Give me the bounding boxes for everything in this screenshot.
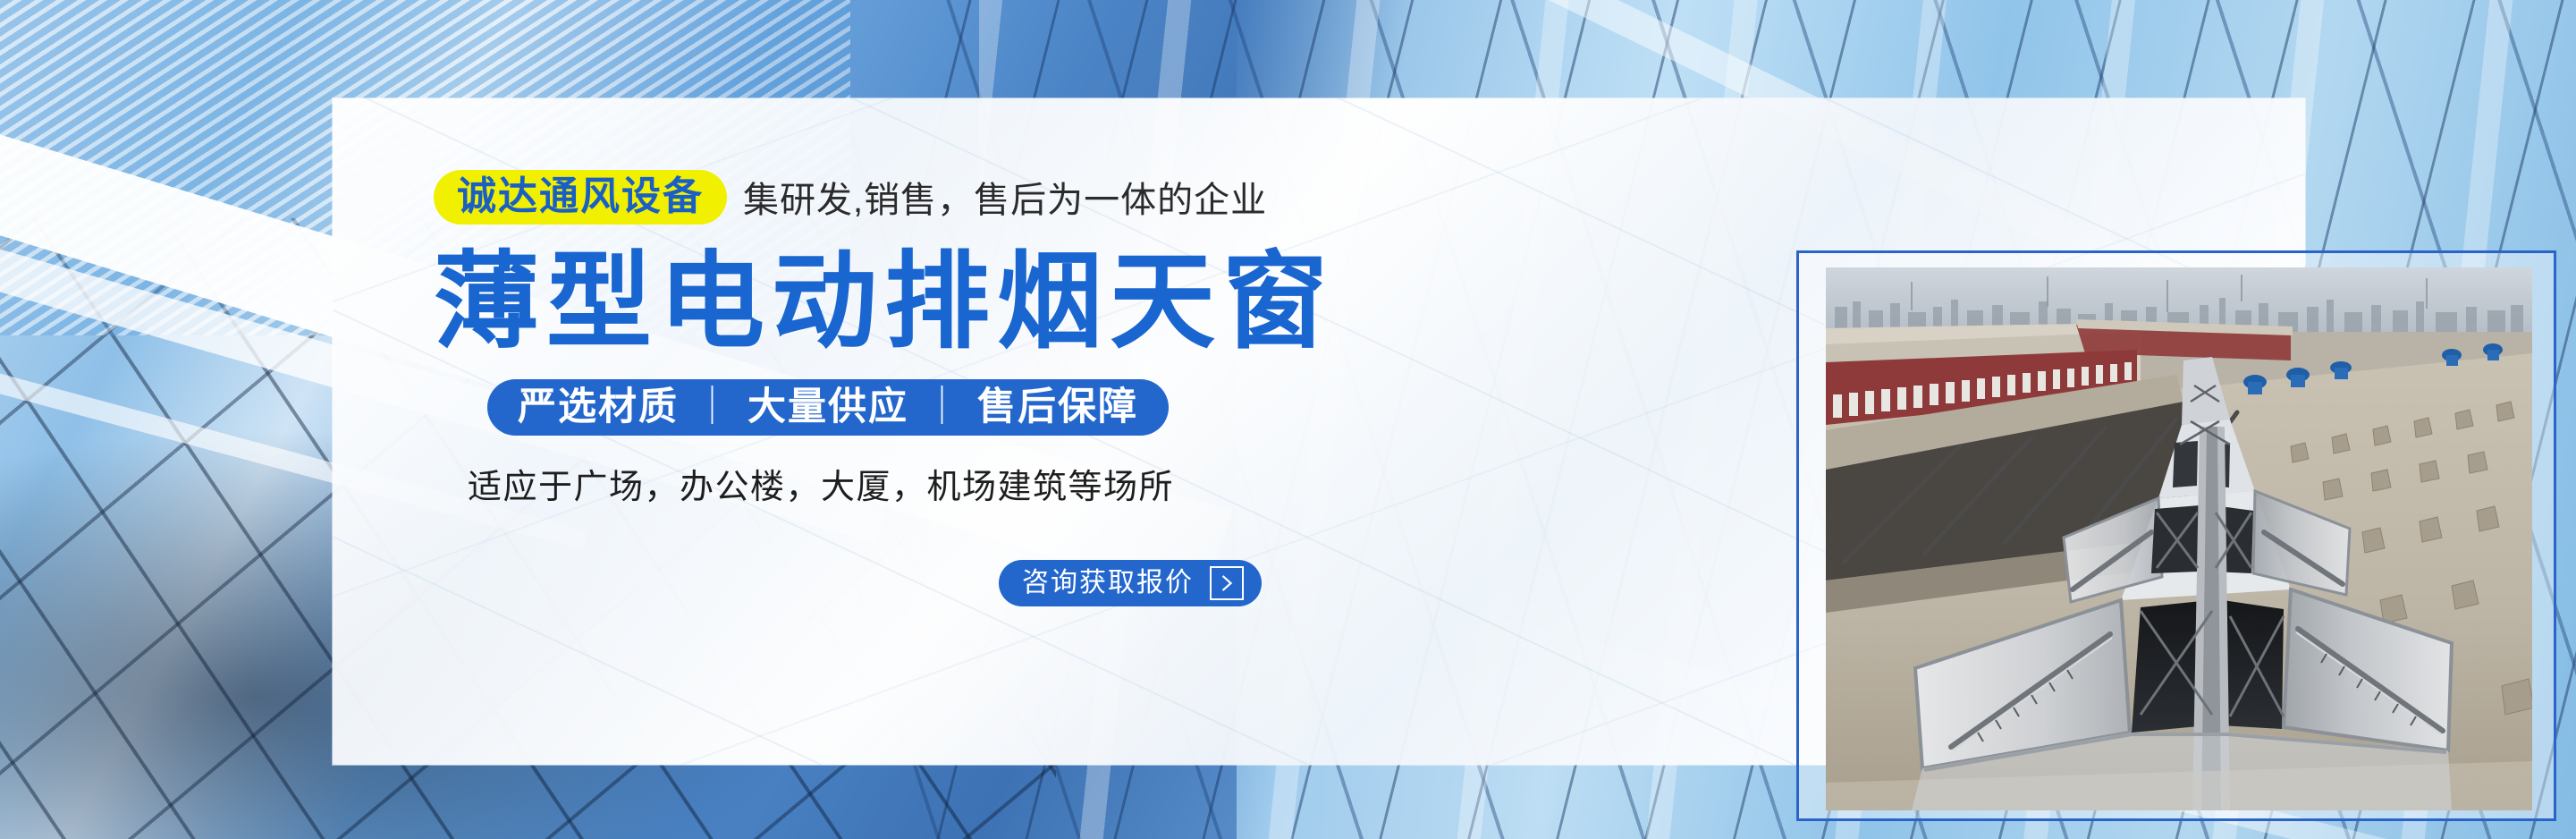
- product-photo-frame: [1796, 250, 2556, 821]
- brand-name-pill: 诚达通风设备: [434, 170, 727, 225]
- cta-row: 咨询获取报价: [999, 560, 1489, 606]
- request-quote-button[interactable]: 咨询获取报价: [999, 560, 1262, 606]
- feature-separator-2: ｜: [923, 388, 963, 427]
- promo-banner: 诚达通风设备 集研发,销售，售后为一体的企业 薄型电动排烟天窗 严选材质 ｜ 大…: [0, 0, 2576, 839]
- feature-item-2: 大量供应: [747, 388, 908, 427]
- product-photo: [1826, 267, 2532, 810]
- feature-item-1: 严选材质: [518, 388, 679, 427]
- page-title: 薄型电动排烟天窗: [434, 246, 1489, 360]
- text-block: 诚达通风设备 集研发,销售，售后为一体的企业 薄型电动排烟天窗 严选材质 ｜ 大…: [434, 169, 1489, 606]
- request-quote-label: 咨询获取报价: [1022, 570, 1194, 597]
- chevron-right-icon: [1210, 566, 1244, 600]
- feature-separator-1: ｜: [693, 388, 733, 427]
- feature-highlight-bar: 严选材质 ｜ 大量供应 ｜ 售后保障: [487, 379, 1169, 436]
- feature-item-3: 售后保障: [977, 388, 1138, 427]
- application-description: 适应于广场，办公楼，大厦，机场建筑等场所: [468, 459, 1489, 508]
- content-panel: 诚达通风设备 集研发,销售，售后为一体的企业 薄型电动排烟天窗 严选材质 ｜ 大…: [333, 98, 2305, 765]
- tagline-row: 诚达通风设备 集研发,销售，售后为一体的企业: [434, 169, 1489, 225]
- tagline-text: 集研发,销售，售后为一体的企业: [743, 171, 1267, 223]
